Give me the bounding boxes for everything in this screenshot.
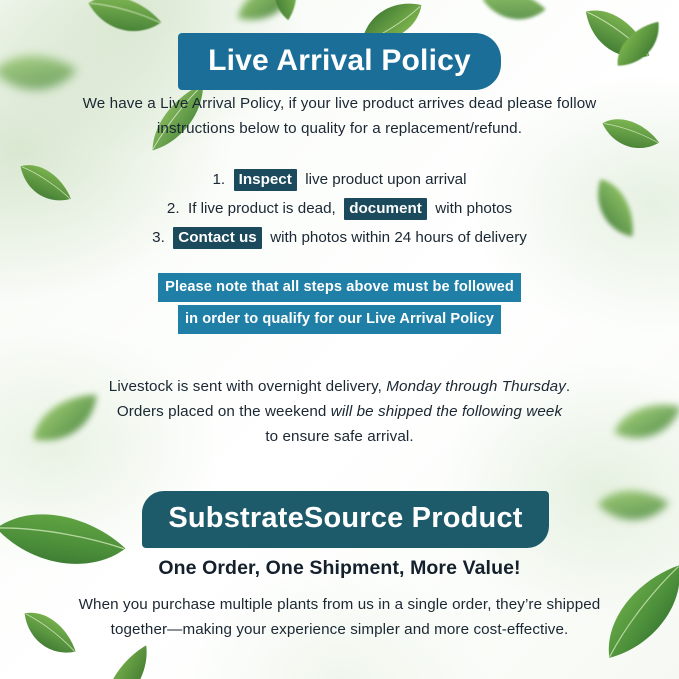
list-item: 3. Contact us with photos within 24 hour… (0, 223, 679, 252)
value-paragraph: When you purchase multiple plants from u… (0, 592, 679, 642)
step-text: with photos within 24 hours of delivery (270, 229, 527, 246)
live-arrival-policy-banner-container: Live Arrival Policy (0, 33, 679, 90)
step-chip-inspect: Inspect (234, 169, 297, 191)
shipping-line-1-a: Livestock is sent with overnight deliver… (109, 378, 387, 395)
step-number: 3. (152, 229, 165, 246)
value-line-1: When you purchase multiple plants from u… (0, 592, 679, 617)
shipping-line-2-a: Orders placed on the weekend (117, 403, 331, 420)
shipping-line-3: to ensure safe arrival. (0, 424, 679, 449)
substratesource-product-banner: SubstrateSource Product (142, 491, 548, 548)
step-text: live product upon arrival (305, 171, 466, 188)
list-item: 1. Inspect live product upon arrival (0, 165, 679, 194)
intro-line-1: We have a Live Arrival Policy, if your l… (0, 91, 679, 116)
value-heading: One Order, One Shipment, More Value! (0, 557, 679, 580)
shipping-line-1-emphasis: Monday through Thursday (386, 378, 566, 395)
leaf-icon (257, 0, 310, 24)
shipping-line-2: Orders placed on the weekend will be shi… (0, 399, 679, 424)
live-arrival-policy-banner: Live Arrival Policy (178, 33, 501, 90)
shipping-line-1-b: . (566, 378, 570, 395)
policy-steps-list: 1. Inspect live product upon arrival 2. … (0, 165, 679, 252)
step-number: 1. (212, 171, 225, 188)
note-line-2: in order to qualify for our Live Arrival… (178, 305, 501, 334)
value-line-2: together—making your experience simpler … (0, 617, 679, 642)
shipping-line-2-emphasis: will be shipped the following week (331, 403, 562, 420)
shipping-paragraph: Livestock is sent with overnight deliver… (0, 374, 679, 449)
step-chip-contact-us: Contact us (173, 227, 261, 249)
list-item: 2. If live product is dead, document wit… (0, 194, 679, 223)
live-arrival-policy-infographic: Live Arrival Policy We have a Live Arriv… (0, 0, 679, 679)
note-line-1: Please note that all steps above must be… (158, 273, 521, 302)
step-chip-document: document (344, 198, 427, 220)
intro-paragraph: We have a Live Arrival Policy, if your l… (0, 91, 679, 141)
intro-line-2: instructions below to quality for a repl… (0, 116, 679, 141)
note-row-2: in order to qualify for our Live Arrival… (0, 305, 679, 334)
step-text-before: If live product is dead, (188, 200, 336, 217)
step-text: with photos (435, 200, 512, 217)
policy-note-callout: Please note that all steps above must be… (0, 273, 679, 337)
note-row-1: Please note that all steps above must be… (0, 273, 679, 302)
shipping-line-1: Livestock is sent with overnight deliver… (0, 374, 679, 399)
substratesource-product-banner-container: SubstrateSource Product (0, 491, 679, 548)
step-number: 2. (167, 200, 180, 217)
